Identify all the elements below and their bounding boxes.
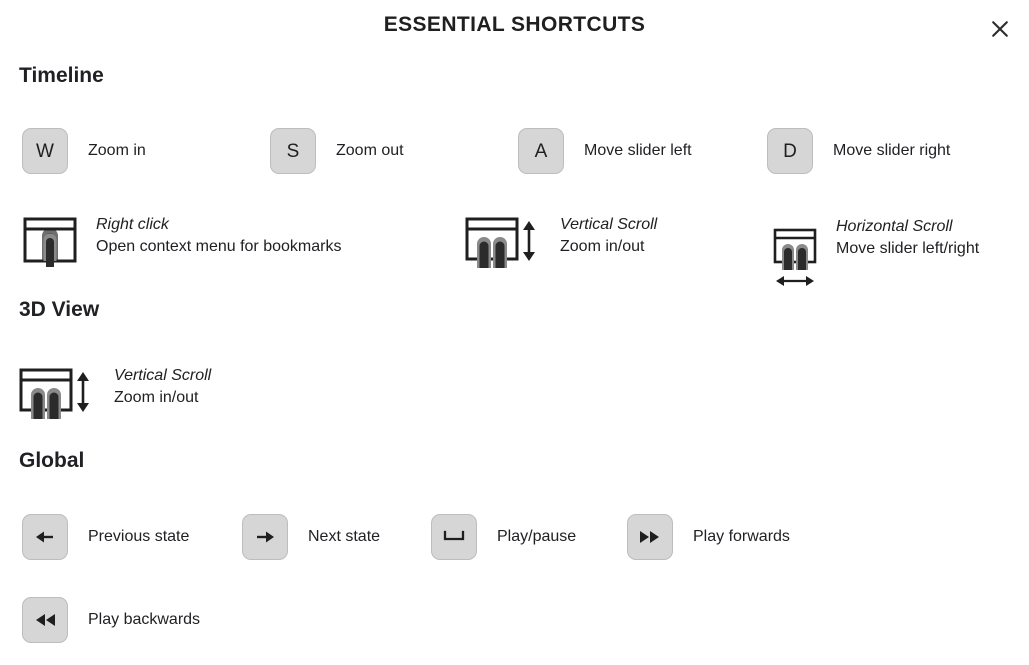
shortcut-item-play-forwards[interactable]: Play forwards xyxy=(627,502,790,572)
gesture-title: Right click xyxy=(96,214,341,236)
close-button[interactable] xyxy=(983,13,1017,45)
global-key-row-2: Play backwards xyxy=(0,585,1029,655)
close-icon xyxy=(990,19,1010,39)
shortcut-label: Zoom out xyxy=(336,142,404,160)
view3d-gesture-row: Vertical Scroll Zoom in/out xyxy=(0,365,1029,445)
section-heading-timeline: Timeline xyxy=(19,64,104,88)
global-key-row-1: Previous state Next state Play/pause xyxy=(0,502,1029,572)
key-arrow-right[interactable] xyxy=(242,514,288,560)
shortcut-item-zoom-out[interactable]: S Zoom out xyxy=(270,116,404,186)
trackpad-vertical-scroll-icon xyxy=(18,367,96,428)
letter-d-icon: D xyxy=(783,142,797,161)
gesture-title: Vertical Scroll xyxy=(114,365,211,387)
gesture-item-3d-vertical-scroll[interactable]: Vertical Scroll Zoom in/out xyxy=(18,365,211,445)
letter-s-icon: S xyxy=(287,142,300,161)
key-a[interactable]: A xyxy=(518,128,564,174)
gesture-title: Horizontal Scroll xyxy=(836,216,979,238)
gesture-text: Vertical Scroll Zoom in/out xyxy=(114,365,211,409)
shortcut-label: Move slider right xyxy=(833,142,950,160)
gesture-text: Horizontal Scroll Move slider left/right xyxy=(836,216,979,260)
key-rewind[interactable] xyxy=(22,597,68,643)
shortcut-label: Play backwards xyxy=(88,611,200,629)
key-spacebar[interactable] xyxy=(431,514,477,560)
page-title: ESSENTIAL SHORTCUTS xyxy=(0,13,1029,37)
trackpad-vertical-scroll-icon xyxy=(464,216,542,277)
trackpad-right-click-icon xyxy=(22,216,78,273)
gesture-desc: Zoom in/out xyxy=(560,236,657,258)
gesture-item-right-click[interactable]: Right click Open context menu for bookma… xyxy=(22,214,341,294)
shortcut-item-move-slider-right[interactable]: D Move slider right xyxy=(767,116,950,186)
key-s[interactable]: S xyxy=(270,128,316,174)
arrow-left-icon xyxy=(33,525,57,549)
shortcut-item-play-pause[interactable]: Play/pause xyxy=(431,502,576,572)
fast-forward-icon xyxy=(636,527,664,547)
shortcut-label: Previous state xyxy=(88,528,189,546)
gesture-text: Right click Open context menu for bookma… xyxy=(96,214,341,258)
section-heading-3d-view: 3D View xyxy=(19,298,99,322)
shortcut-label: Next state xyxy=(308,528,380,546)
shortcut-item-move-slider-left[interactable]: A Move slider left xyxy=(518,116,692,186)
gesture-item-vertical-scroll[interactable]: Vertical Scroll Zoom in/out xyxy=(464,214,657,294)
gesture-text: Vertical Scroll Zoom in/out xyxy=(560,214,657,258)
section-heading-global: Global xyxy=(19,449,84,473)
gesture-item-horizontal-scroll[interactable]: Horizontal Scroll Move slider left/right xyxy=(772,214,979,306)
letter-a-icon: A xyxy=(535,142,548,161)
shortcut-label: Play forwards xyxy=(693,528,790,546)
key-fast-forward[interactable] xyxy=(627,514,673,560)
gesture-desc: Open context menu for bookmarks xyxy=(96,236,341,258)
letter-w-icon: W xyxy=(36,142,54,161)
gesture-title: Vertical Scroll xyxy=(560,214,657,236)
key-arrow-left[interactable] xyxy=(22,514,68,560)
rewind-icon xyxy=(31,610,59,630)
key-w[interactable]: W xyxy=(22,128,68,174)
shortcut-item-next-state[interactable]: Next state xyxy=(242,502,380,572)
shortcut-item-previous-state[interactable]: Previous state xyxy=(22,502,189,572)
shortcut-item-zoom-in[interactable]: W Zoom in xyxy=(22,116,146,186)
timeline-key-row: W Zoom in S Zoom out A Move slider left … xyxy=(0,116,1029,186)
shortcut-label: Zoom in xyxy=(88,142,146,160)
timeline-gesture-row: Right click Open context menu for bookma… xyxy=(0,214,1029,294)
shortcut-label: Move slider left xyxy=(584,142,692,160)
gesture-desc: Move slider left/right xyxy=(836,238,979,260)
shortcut-item-play-backwards[interactable]: Play backwards xyxy=(22,585,200,655)
gesture-desc: Zoom in/out xyxy=(114,387,211,409)
shortcut-label: Play/pause xyxy=(497,528,576,546)
arrow-right-icon xyxy=(253,525,277,549)
key-d[interactable]: D xyxy=(767,128,813,174)
trackpad-horizontal-scroll-icon xyxy=(772,228,818,297)
spacebar-icon xyxy=(441,527,467,547)
